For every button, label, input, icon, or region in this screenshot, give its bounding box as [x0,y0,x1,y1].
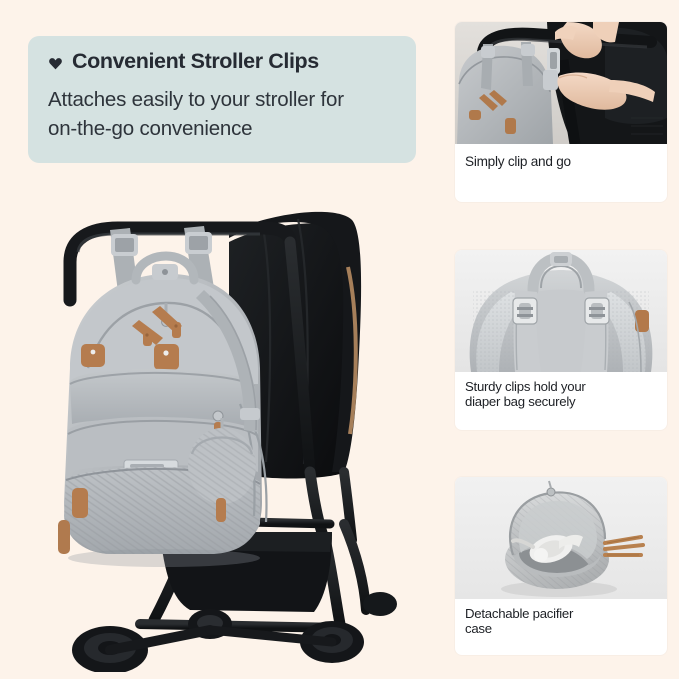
panel-pacifier-case: Detachable pacifier case [455,477,667,655]
callout-heading: Convenient Stroller Clips [72,50,319,74]
heart-icon [48,56,63,71]
panel-3-caption: Detachable pacifier case [455,599,667,637]
backpack-straps-clips-photo [455,250,667,372]
callout-body: Attaches easily to your stroller for on-… [48,85,396,143]
panel-sturdy-clips: Sturdy clips hold your diaper bag secure… [455,250,667,430]
right-column: Simply clip and go [440,0,679,679]
panel-2-caption-line-2: diaper bag securely [465,394,657,409]
panel-simply-clip-and-go: Simply clip and go [455,22,667,202]
callout-card: Convenient Stroller Clips Attaches easil… [28,36,416,163]
pacifier-case-photo [455,477,667,599]
panel-2-caption: Sturdy clips hold your diaper bag secure… [455,372,667,410]
panel-3-caption-line-1: Detachable pacifier [465,606,657,621]
panel-2-caption-line-1: Sturdy clips hold your [465,379,657,394]
callout-body-line-1: Attaches easily to your stroller for [48,85,396,114]
panel-1-caption-line-1: Simply clip and go [465,154,657,170]
callout-heading-row: Convenient Stroller Clips [48,50,396,74]
left-column: Convenient Stroller Clips Attaches easil… [0,0,440,679]
panel-3-caption-line-2: case [465,621,657,636]
panel-1-caption: Simply clip and go [455,144,667,170]
hero-image [14,172,434,672]
callout-body-line-2: on-the-go convenience [48,114,396,143]
hands-clipping-bag-photo [455,22,667,144]
